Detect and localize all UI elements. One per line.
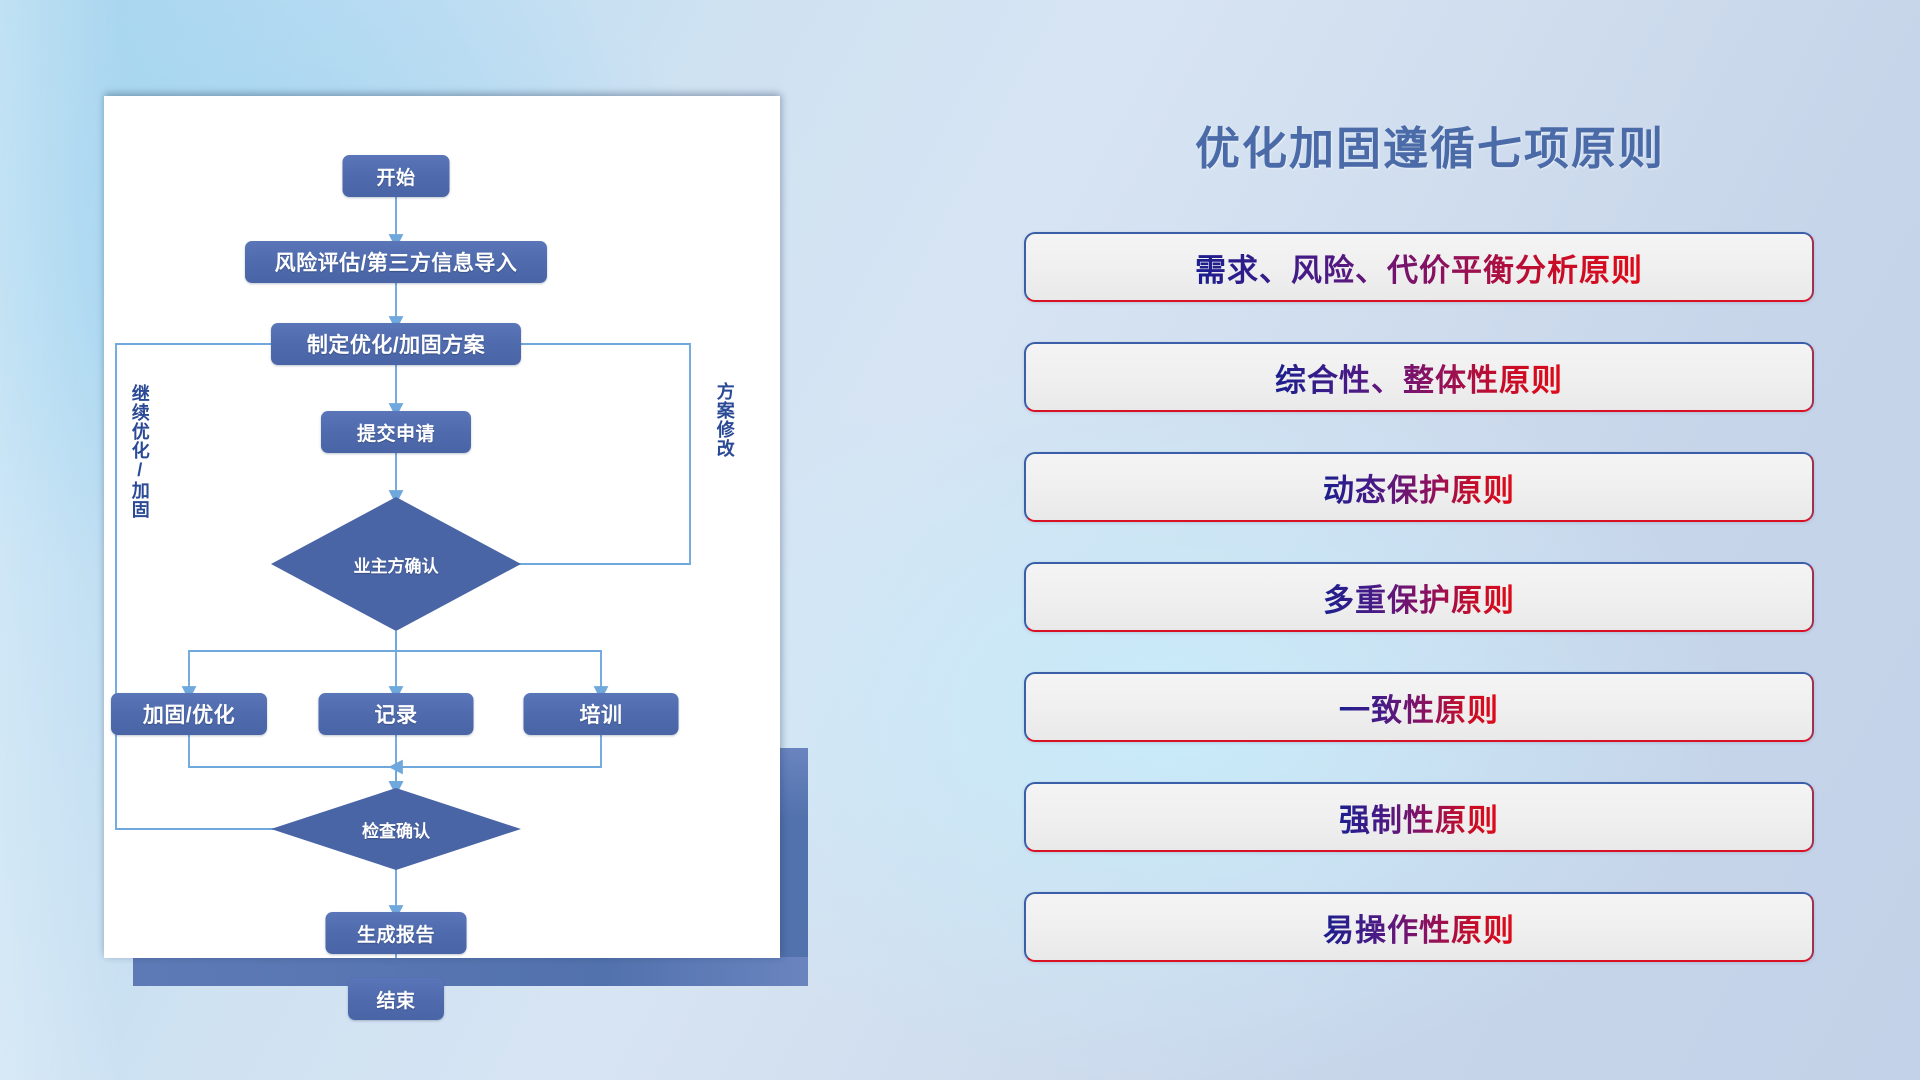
- principle-card-1[interactable]: 需求、风险、代价平衡分析原则: [1024, 232, 1814, 302]
- principle-card-2[interactable]: 综合性、整体性原则: [1024, 342, 1814, 412]
- flowchart-region: 开始 风险评估/第三方信息导入 制定优化/加固方案 提交申请 业主方确认 加固/…: [0, 0, 900, 1080]
- flow-node-training[interactable]: 培训: [524, 693, 679, 735]
- principle-label: 强制性原则: [1339, 795, 1499, 840]
- flow-node-start[interactable]: 开始: [343, 155, 450, 197]
- flow-edge-label-continue-optimize: 继续优化/加固: [130, 384, 149, 519]
- principle-card-7[interactable]: 易操作性原则: [1024, 892, 1814, 962]
- flow-node-risk-assessment[interactable]: 风险评估/第三方信息导入: [245, 241, 547, 283]
- principles-region: 优化加固遵循七项原则 需求、风险、代价平衡分析原则 综合性、整体性原则 动态保护…: [1020, 0, 1840, 1080]
- flow-node-reinforce[interactable]: 加固/优化: [111, 693, 267, 735]
- principle-label: 综合性、整体性原则: [1275, 355, 1563, 400]
- page-title: 优化加固遵循七项原则: [1020, 112, 1840, 177]
- principle-label: 多重保护原则: [1323, 575, 1515, 620]
- principle-label: 需求、风险、代价平衡分析原则: [1195, 245, 1643, 290]
- principle-label: 一致性原则: [1339, 685, 1499, 730]
- slide-canvas: 开始 风险评估/第三方信息导入 制定优化/加固方案 提交申请 业主方确认 加固/…: [0, 0, 1920, 1080]
- flow-node-plan[interactable]: 制定优化/加固方案: [271, 323, 521, 365]
- principle-label: 易操作性原则: [1323, 905, 1515, 950]
- principle-card-3[interactable]: 动态保护原则: [1024, 452, 1814, 522]
- principle-label: 动态保护原则: [1323, 465, 1515, 510]
- flow-node-report[interactable]: 生成报告: [326, 912, 467, 954]
- flowchart-card: 开始 风险评估/第三方信息导入 制定优化/加固方案 提交申请 业主方确认 加固/…: [104, 96, 780, 958]
- principle-card-5[interactable]: 一致性原则: [1024, 672, 1814, 742]
- principle-card-4[interactable]: 多重保护原则: [1024, 562, 1814, 632]
- flow-node-record[interactable]: 记录: [319, 693, 474, 735]
- flow-node-submit[interactable]: 提交申请: [321, 411, 471, 453]
- flow-edge-label-plan-revision: 方案修改: [715, 382, 734, 458]
- accent-bar-horizontal: [133, 957, 808, 986]
- principles-list: 需求、风险、代价平衡分析原则 综合性、整体性原则 动态保护原则 多重保护原则 一…: [1024, 232, 1814, 962]
- principle-card-6[interactable]: 强制性原则: [1024, 782, 1814, 852]
- flow-node-end[interactable]: 结束: [348, 978, 444, 1020]
